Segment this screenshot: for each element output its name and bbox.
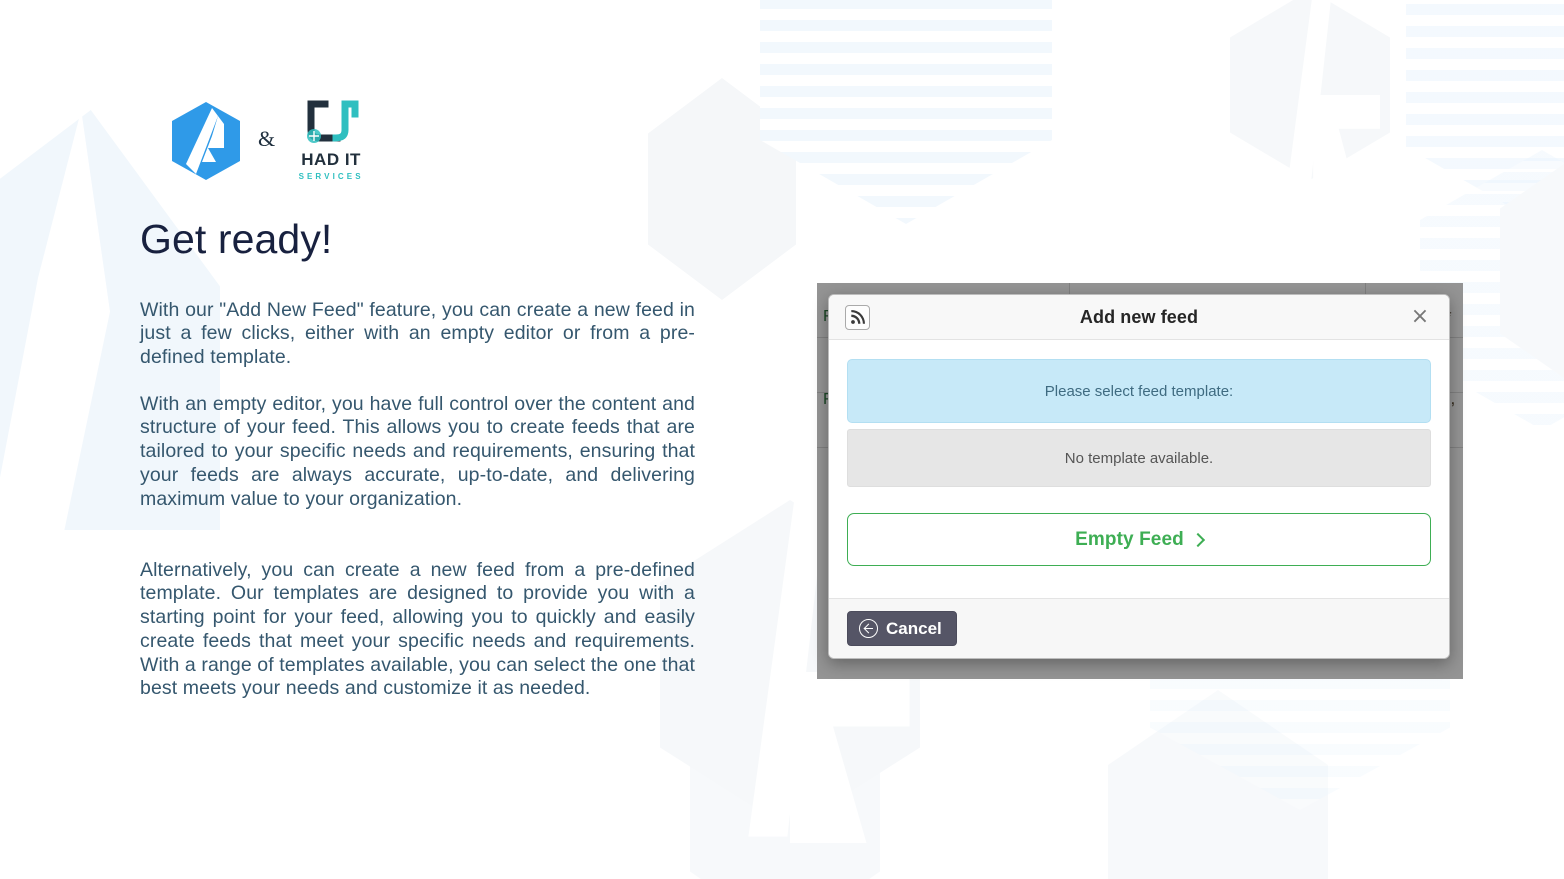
add-new-feed-dialog: Add new feed × Please select feed templa…	[828, 294, 1450, 659]
dialog-footer: Cancel	[829, 598, 1449, 658]
close-icon[interactable]: ×	[1409, 306, 1431, 328]
decor-hexagon-gray-3	[1108, 690, 1328, 879]
hadit-wordmark: HAD IT	[301, 150, 361, 170]
hero-paragraph-1: With our "Add New Feed" feature, you can…	[140, 299, 695, 370]
dialog-title: Add new feed	[829, 307, 1449, 328]
cancel-button[interactable]: Cancel	[847, 611, 957, 646]
chevron-right-icon	[1191, 532, 1205, 546]
page-title: Get ready!	[140, 217, 332, 262]
hadit-logo: HAD IT SERVICES	[293, 98, 369, 184]
brand-logos: & HAD IT SERVICES	[172, 98, 369, 184]
arrow-circle-left-icon	[859, 619, 878, 638]
dialog-body: Please select feed template: No template…	[829, 340, 1449, 598]
empty-feed-button[interactable]: Empty Feed	[847, 513, 1431, 566]
ampersand-label: &	[258, 128, 275, 154]
cancel-label: Cancel	[886, 619, 942, 639]
rss-icon[interactable]	[845, 305, 870, 330]
decor-watermark-logo-topright	[1230, 0, 1390, 180]
decor-hexagon-gray-1	[648, 78, 796, 300]
decor-hexagon-striped-1	[760, 0, 1052, 224]
hero-paragraph-2: With an empty editor, you have full cont…	[140, 393, 695, 512]
empty-feed-label: Empty Feed	[1075, 529, 1184, 551]
select-template-prompt: Please select feed template:	[847, 359, 1431, 423]
hero-paragraph-3: Alternatively, you can create a new feed…	[140, 559, 695, 702]
applica-logo-icon	[172, 102, 240, 180]
decor-wedge-left-slash	[0, 110, 110, 530]
no-template-message: No template available.	[847, 429, 1431, 487]
decor-hexagon-gray-4	[690, 675, 880, 879]
dialog-header: Add new feed ×	[829, 295, 1449, 340]
hadit-subtitle: SERVICES	[299, 172, 364, 181]
decor-hexagon-striped-2	[1406, 0, 1564, 224]
decor-hexagon-gray-2	[1500, 146, 1564, 396]
hadit-mark-icon	[303, 98, 359, 148]
page-root: & HAD IT SERVICES Get ready! With our "A…	[0, 0, 1564, 879]
